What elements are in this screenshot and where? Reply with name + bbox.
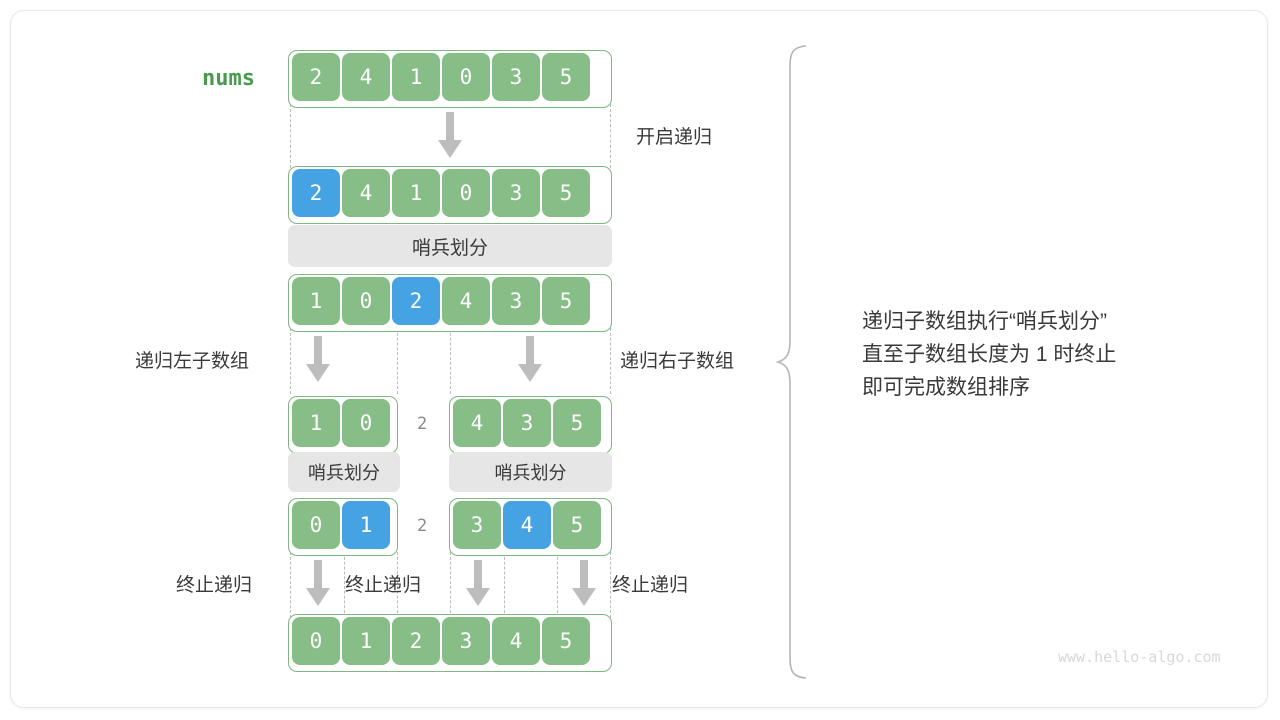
array-sorted: 0 1 2 3 4 5: [288, 614, 612, 672]
curly-brace-icon: [776, 44, 816, 680]
array-cell: 5: [542, 277, 590, 325]
array-cell: 3: [492, 169, 540, 217]
array-cell: 4: [492, 617, 540, 665]
array-cell: 0: [292, 617, 340, 665]
array-original: 2 4 1 0 3 5: [288, 50, 612, 108]
array-cell: 0: [442, 169, 490, 217]
array-cell: 5: [542, 617, 590, 665]
array-cell: 5: [542, 53, 590, 101]
array-cell: 1: [292, 277, 340, 325]
array-cell: 3: [453, 501, 501, 549]
array-cell: 0: [342, 277, 390, 325]
guide-b5: [504, 552, 505, 618]
array-cell: 1: [392, 53, 440, 101]
guide-b6: [557, 552, 558, 618]
down-arrow-icon: [304, 560, 332, 608]
array-pivot-selected: 2 4 1 0 3 5: [288, 166, 612, 224]
recurse-right-label: 递归右子数组: [620, 346, 734, 373]
note-line-2: 直至子数组长度为 1 时终止: [862, 338, 1116, 371]
array-cell: 1: [342, 617, 390, 665]
array-cell: 2: [392, 617, 440, 665]
end-recursion-label-3: 终止递归: [612, 570, 688, 597]
diagram-canvas: nums 2 4 1 0 3 5 开启递归 2 4 1 0 3 5 哨兵划分 1…: [0, 0, 1280, 720]
guide-right-l2: [610, 328, 611, 394]
end-recursion-label-2: 终止递归: [345, 570, 421, 597]
array-right-partitioned: 3 4 5: [449, 498, 612, 556]
array-after-partition: 1 0 2 4 3 5: [288, 274, 612, 332]
down-arrow-icon: [516, 336, 544, 384]
down-arrow-icon: [570, 560, 598, 608]
guide-left-l2: [290, 328, 291, 394]
down-arrow-icon: [436, 112, 464, 160]
guide-mid-l2b: [450, 328, 451, 394]
array-cell: 1: [392, 169, 440, 217]
guide-b7: [610, 552, 611, 618]
pivot-standalone-label: 2: [417, 414, 427, 434]
array-cell: 3: [503, 399, 551, 447]
array-cell-pivot: 2: [292, 169, 340, 217]
array-cell: 3: [442, 617, 490, 665]
array-cell: 4: [442, 277, 490, 325]
note-line-1: 递归子数组执行“哨兵划分”: [862, 305, 1107, 338]
array-left-partitioned: 0 1: [288, 498, 398, 556]
end-recursion-label-1: 终止递归: [176, 570, 252, 597]
array-cell: 2: [292, 53, 340, 101]
array-cell-pivot: 2: [392, 277, 440, 325]
array-cell: 5: [553, 399, 601, 447]
guide-right-outer: [610, 104, 611, 168]
array-cell: 5: [542, 169, 590, 217]
array-cell: 1: [292, 399, 340, 447]
partition-box-right: 哨兵划分: [449, 452, 612, 492]
array-left-subarray: 1 0: [288, 396, 398, 454]
guide-left-outer: [290, 104, 291, 168]
note-line-3: 即可完成数组排序: [862, 371, 1030, 404]
guide-b1: [290, 552, 291, 618]
partition-box-left: 哨兵划分: [288, 452, 400, 492]
array-cell: 0: [442, 53, 490, 101]
down-arrow-icon: [464, 560, 492, 608]
array-cell: 0: [342, 399, 390, 447]
array-cell-pivot: 4: [503, 501, 551, 549]
start-recursion-label: 开启递归: [636, 122, 712, 149]
array-right-subarray: 4 3 5: [449, 396, 612, 454]
array-cell: 3: [492, 53, 540, 101]
nums-label: nums: [202, 66, 255, 91]
array-cell: 4: [342, 169, 390, 217]
recurse-left-label: 递归左子数组: [135, 346, 249, 373]
down-arrow-icon: [304, 336, 332, 384]
array-cell-pivot: 1: [342, 501, 390, 549]
array-cell: 4: [453, 399, 501, 447]
array-cell: 0: [292, 501, 340, 549]
partition-box-full: 哨兵划分: [288, 225, 612, 267]
array-cell: 3: [492, 277, 540, 325]
watermark: www.hello-algo.com: [1058, 648, 1221, 666]
pivot-standalone-label: 2: [417, 516, 427, 536]
guide-mid-l2a: [397, 328, 398, 394]
guide-b4: [450, 552, 451, 618]
array-cell: 5: [553, 501, 601, 549]
array-cell: 4: [342, 53, 390, 101]
